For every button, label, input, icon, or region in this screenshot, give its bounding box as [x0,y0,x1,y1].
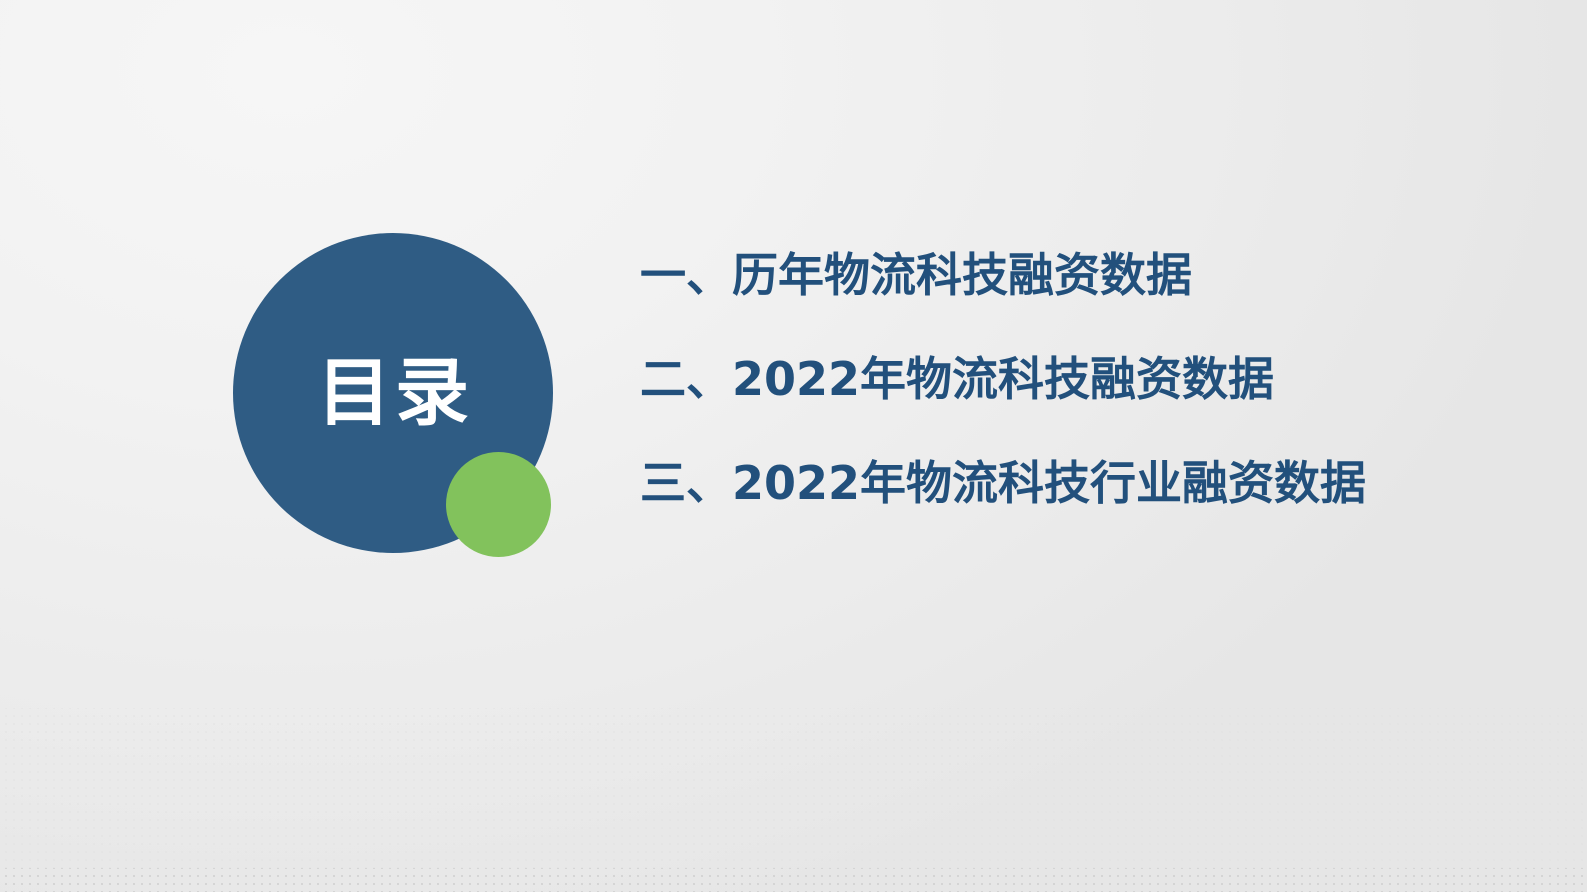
agenda-badge: 目录 [233,233,553,553]
agenda-item-1[interactable]: 一、历年物流科技融资数据 [640,252,1540,298]
background-dot-texture [0,868,1587,892]
agenda-item-2[interactable]: 二、2022年物流科技融资数据 [640,356,1540,402]
agenda-list: 一、历年物流科技融资数据 二、2022年物流科技融资数据 三、2022年物流科技… [640,252,1540,506]
agenda-item-3[interactable]: 三、2022年物流科技行业融资数据 [640,460,1540,506]
background-dot-texture-soft [0,708,1587,868]
agenda-badge-label: 目录 [233,233,553,553]
presentation-slide: 目录 一、历年物流科技融资数据 二、2022年物流科技融资数据 三、2022年物… [0,0,1587,892]
